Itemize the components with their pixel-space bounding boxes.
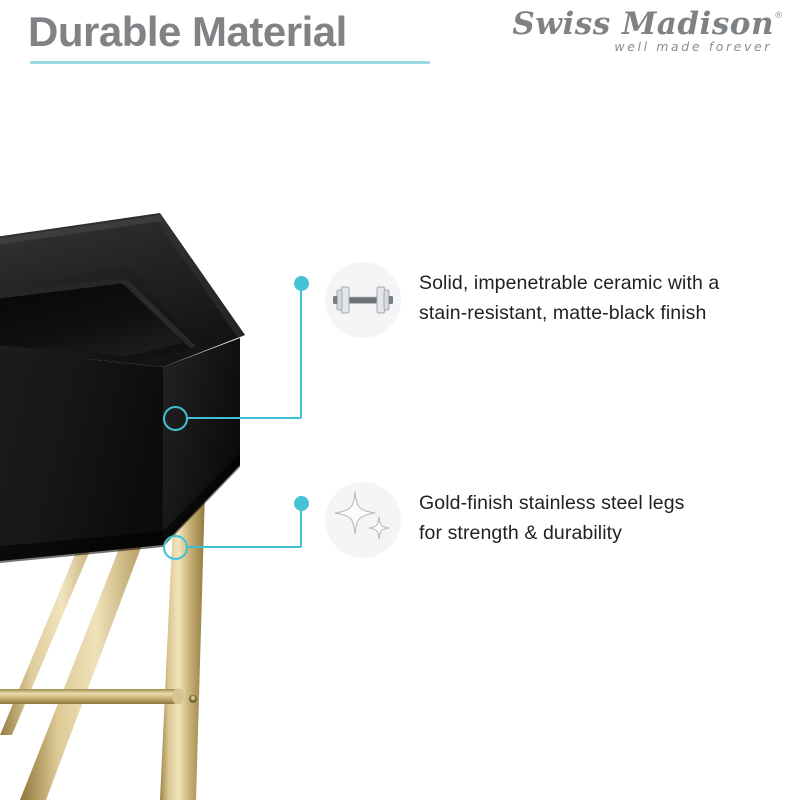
callout-dot-ceramic (294, 276, 309, 291)
callout-leader-vertical-legs (300, 508, 302, 547)
registered-trademark-icon: ® (775, 10, 782, 20)
callout-badge-legs (325, 482, 401, 558)
callout-legs-line1: Gold-finish stainless steel legs (419, 489, 779, 519)
callout-text-legs: Gold-finish stainless steel legs for str… (419, 489, 779, 548)
brand-tagline: well made forever (614, 39, 772, 54)
title-underline (30, 61, 430, 64)
callout-leader-vertical-ceramic (300, 288, 302, 418)
sparkle-icon (325, 482, 401, 558)
callout-ceramic-line1: Solid, impenetrable ceramic with a (419, 269, 779, 299)
callout-dot-legs (294, 496, 309, 511)
brand-logo: Swiss Madison ® well made forever (542, 6, 782, 62)
callout-badge-ceramic (325, 262, 401, 338)
sink-basin (0, 213, 245, 567)
callout-ceramic-line2: stain-resistant, matte-black finish (419, 299, 779, 329)
callout-leader-horizontal-legs (188, 546, 301, 548)
page-title: Durable Material (28, 8, 347, 56)
product-photo (0, 95, 330, 800)
callout-leader-horizontal-ceramic (188, 417, 301, 419)
callout-anchor-ring-ceramic (163, 406, 188, 431)
product-feature-card: Durable Material Swiss Madison ® well ma… (0, 0, 800, 800)
callout-legs-line2: for strength & durability (419, 519, 779, 549)
dumbbell-icon (325, 262, 401, 338)
product-illustration (0, 95, 330, 800)
callout-text-ceramic: Solid, impenetrable ceramic with a stain… (419, 269, 779, 328)
brand-name: Swiss Madison (512, 6, 774, 42)
callout-anchor-ring-legs (163, 535, 188, 560)
